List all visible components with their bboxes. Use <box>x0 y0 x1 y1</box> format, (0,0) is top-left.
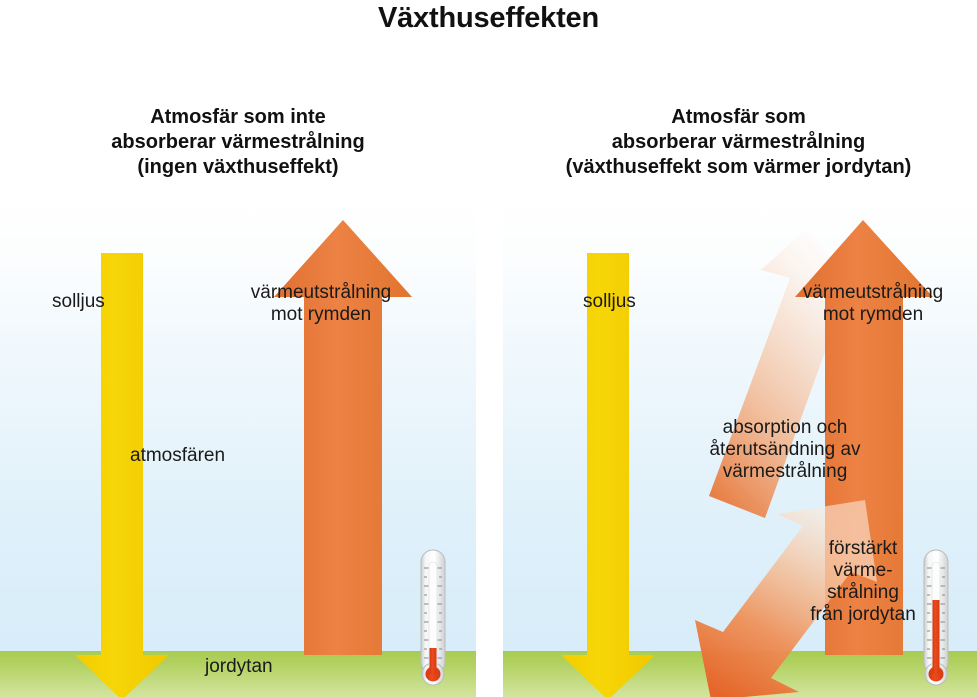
right-heading-line-3: (växthuseffekt som värmer jordytan) <box>500 155 977 180</box>
left-heading-line-2: absorberar värmestrålning <box>0 130 476 155</box>
outgoing-left-line-1: värmeutstrålning <box>221 282 421 304</box>
right-heading-line-2: absorberar värmestrålning <box>500 130 977 155</box>
right-scene: solljus värmeutstrålning mot rymden abso… <box>503 200 977 697</box>
enhanced-line-3: strålning <box>788 582 938 604</box>
left-heading-line-3: (ingen växthuseffekt) <box>0 155 476 180</box>
outgoing-right-line-1: värmeutstrålning <box>773 282 973 304</box>
label-enhanced-radiation: förstärkt värme- strålning från jordytan <box>788 538 938 626</box>
label-sunlight-left: solljus <box>52 291 105 313</box>
enhanced-line-4: från jordytan <box>788 604 938 626</box>
label-sunlight-right: solljus <box>583 291 636 313</box>
enhanced-line-1: förstärkt <box>788 538 938 560</box>
page-title: Växthuseffekten <box>0 2 977 35</box>
left-arrows <box>0 200 476 697</box>
right-heading-line-1: Atmosfär som <box>500 105 977 130</box>
sunlight-arrow-left <box>75 253 169 697</box>
absorption-line-1: absorption och <box>685 417 885 439</box>
sunlight-arrow-right <box>561 253 655 697</box>
label-ground-left: jordytan <box>205 656 273 678</box>
enhanced-line-2: värme- <box>788 560 938 582</box>
right-panel-heading: Atmosfär som absorberar värmestrålning (… <box>500 105 977 180</box>
outgoing-right-line-2: mot rymden <box>773 304 973 326</box>
absorption-line-2: återutsändning av <box>685 439 885 461</box>
label-absorption-reemission: absorption och återutsändning av värmest… <box>685 417 885 483</box>
label-outgoing-radiation-right: värmeutstrålning mot rymden <box>773 282 973 326</box>
label-atmosphere-left: atmosfären <box>130 445 225 467</box>
diagram-canvas: Växthuseffekten Atmosfär som inte absorb… <box>0 0 977 697</box>
thermometer-warm-icon <box>922 548 950 688</box>
left-scene: solljus atmosfären jordytan värmeutstrål… <box>0 200 476 697</box>
left-panel-heading: Atmosfär som inte absorberar värmestråln… <box>0 105 476 180</box>
left-heading-line-1: Atmosfär som inte <box>0 105 476 130</box>
label-outgoing-radiation-left: värmeutstrålning mot rymden <box>221 282 421 326</box>
thermometer-cold-icon <box>419 548 447 688</box>
absorption-line-3: värmestrålning <box>685 461 885 483</box>
outgoing-left-line-2: mot rymden <box>221 304 421 326</box>
